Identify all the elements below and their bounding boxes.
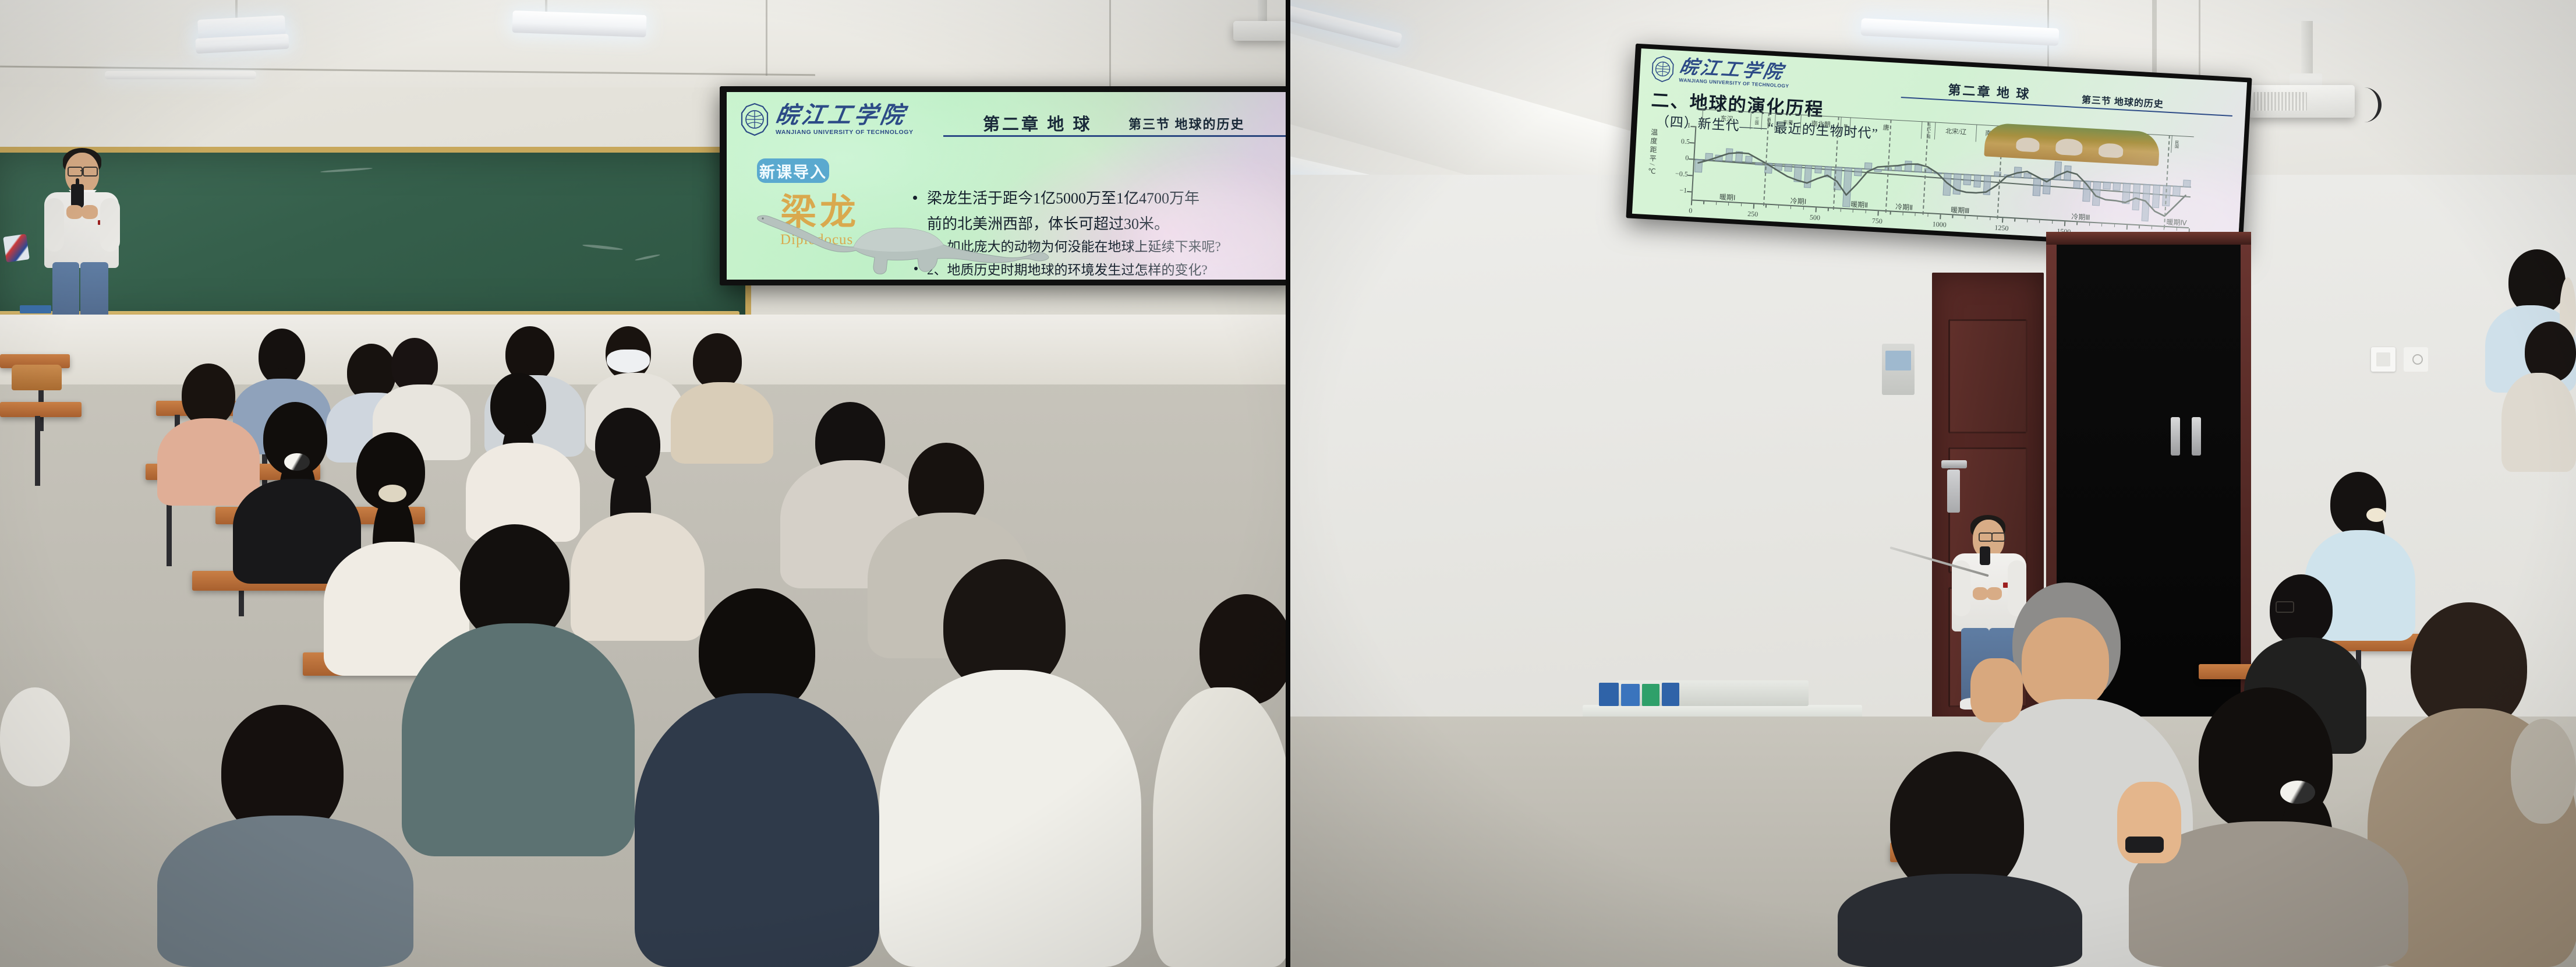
- chart-x-minor-tick: [2114, 224, 2114, 227]
- chart-x-minor-tick: [1902, 213, 1903, 216]
- projector-pole-right: [2301, 21, 2313, 76]
- glasses-icon: [2276, 601, 2294, 613]
- power-socket: [2404, 347, 2428, 372]
- chart-x-minor-tick: [1728, 203, 1729, 206]
- projector-cable: [2345, 87, 2382, 122]
- chart-x-minor-tick: [1853, 210, 1853, 213]
- chart-x-tick: [2126, 225, 2128, 230]
- dynasty-label: 东汉: [1720, 115, 1733, 122]
- chart-y-tick: [1690, 126, 1695, 127]
- chart-x-minor-tick: [1952, 215, 1953, 218]
- wall-control-panel: [1882, 344, 1915, 395]
- chalk-mark: [320, 167, 373, 173]
- chart-x-minor-tick: [2089, 223, 2090, 226]
- chart-x-minor-tick: [1765, 204, 1766, 207]
- chart-x-tick-label: 500: [1803, 213, 1827, 223]
- observer-body: [1838, 874, 2082, 967]
- mammoth-figure: [2099, 143, 2124, 158]
- chalk-box: [1621, 684, 1640, 706]
- chart-x-tick-label: 0: [1679, 206, 1703, 216]
- light-switch: [2371, 347, 2395, 372]
- chart-x-minor-tick: [2039, 220, 2040, 223]
- chart-y-tick: [1687, 191, 1692, 192]
- projector-left: [1233, 21, 1288, 41]
- chart-x-minor-tick: [1716, 202, 1717, 205]
- chart-x-minor-tick: [1965, 216, 1965, 219]
- door-lock-plate: [1947, 470, 1960, 513]
- dynasty-cell: 北宋/辽: [1934, 122, 1977, 142]
- glasses-icon: [1979, 532, 1993, 542]
- chart-x-minor-tick: [1740, 203, 1741, 206]
- chart-y-tick: [1690, 142, 1694, 143]
- teacher-arm-right: [100, 198, 120, 252]
- panel-divider: [1286, 0, 1290, 967]
- student-body: [1153, 687, 1288, 967]
- slide-left: 皖江工学院 WANJIANG UNIVERSITY OF TECHNOLOGY …: [727, 92, 1288, 280]
- desk-leg: [35, 416, 40, 486]
- chart-x-minor-tick: [1990, 217, 1990, 220]
- student-shoulder: [0, 687, 70, 786]
- chart-x-tick-label: 250: [1741, 209, 1765, 219]
- chart-x-minor-tick: [1915, 213, 1916, 216]
- microphone-right: [1980, 546, 1990, 565]
- diplodocus-illustration: [751, 200, 1077, 280]
- projector-pole-left: [1258, 0, 1267, 23]
- chair-back: [12, 365, 62, 390]
- chart-y-axis-label: 温度距平/℃: [1646, 128, 1659, 193]
- chart-x-minor-tick: [1977, 217, 1977, 220]
- header-rule-right: [1901, 97, 2232, 117]
- chalk-mark: [635, 253, 660, 261]
- chart-x-tick: [1940, 214, 1941, 219]
- teacher-hand-left: [1973, 587, 1988, 600]
- observer-shoulder: [2511, 719, 2576, 824]
- hair-bow: [378, 485, 406, 502]
- mammoth-figure: [2016, 137, 2040, 152]
- chart-x-minor-tick: [1703, 202, 1704, 204]
- hair-scrunchie: [284, 453, 310, 471]
- glasses-bridge: [80, 170, 83, 171]
- student-body-striped: [879, 670, 1141, 967]
- chart-x-minor-tick: [1927, 214, 1928, 217]
- bullet-dot: [913, 196, 917, 200]
- slide-header-section-left: 第三节 地球的历史: [1128, 114, 1245, 133]
- chart-x-minor-tick: [2176, 228, 2177, 231]
- glasses-icon: [1991, 532, 2005, 542]
- chart-x-minor-tick: [1791, 206, 1791, 209]
- socket-dial: [2412, 354, 2423, 365]
- slide-header-chapter-left: 第二章 地 球: [983, 111, 1092, 135]
- chart-y-tick-label: 1: [1671, 120, 1691, 130]
- chart-x-minor-tick: [1828, 208, 1828, 211]
- wrist-watch: [2125, 837, 2164, 853]
- chart-x-minor-tick: [2139, 225, 2139, 228]
- face-mask: [607, 350, 650, 373]
- university-crest-icon: [739, 103, 770, 136]
- projector-vent: [2253, 92, 2307, 111]
- dynasty-cell: 东晋: [1774, 113, 1802, 132]
- chalk-box: [1599, 683, 1619, 706]
- student-body: [635, 693, 879, 967]
- switch-button: [2376, 352, 2390, 366]
- control-panel-screen: [1885, 351, 1911, 370]
- dynasty-label: 南北朝: [1811, 121, 1831, 128]
- dynasty-cell: 南北朝: [1800, 115, 1841, 135]
- chart-y-tick: [1688, 175, 1693, 176]
- panel-left-classroom: 皖江工学院 WANJIANG UNIVERSITY OF TECHNOLOGY …: [0, 0, 1288, 967]
- dynasty-label: 北宋/辽: [1945, 128, 1967, 136]
- chart-y-tick-label: −0.5: [1668, 169, 1688, 179]
- desk: [0, 402, 82, 417]
- chart-x-minor-tick: [2101, 224, 2102, 227]
- inner-door-handle: [2171, 417, 2180, 456]
- chart-x-tick: [1691, 200, 1692, 205]
- glasses-icon: [83, 167, 98, 177]
- university-crest-icon: [1650, 55, 1676, 83]
- observer-face: [2022, 617, 2109, 708]
- chalk-mark: [582, 243, 623, 250]
- teacher-hand-right: [1987, 587, 2002, 600]
- student-head: [693, 333, 742, 389]
- student-body: [671, 382, 773, 464]
- pill-new-lesson: 新课导入: [757, 158, 829, 183]
- slide-right: 皖江工学院 WANJIANG UNIVERSITY OF TECHNOLOGY …: [1632, 48, 2247, 248]
- university-logo-right: 皖江工学院 WANJIANG UNIVERSITY OF TECHNOLOGY: [1650, 55, 1791, 90]
- dynasty-label: 民国: [2174, 140, 2179, 149]
- chart-x-tick: [1816, 207, 1817, 212]
- university-logo-left: 皖江工学院 WANJIANG UNIVERSITY OF TECHNOLOGY: [739, 103, 914, 136]
- chart-y-tick-label: 0.5: [1670, 136, 1690, 146]
- microphone-tip: [76, 178, 79, 188]
- chart-x-minor-tick: [2027, 220, 2027, 223]
- student-head: [182, 363, 235, 426]
- chalk-box: [1662, 683, 1679, 706]
- chart-x-minor-tick: [1865, 210, 1866, 213]
- chart-x-minor-tick: [2076, 222, 2077, 225]
- dynasty-label: 东晋: [1783, 120, 1793, 126]
- chart-x-tick-label: 1000: [1927, 220, 1951, 230]
- chart-x-minor-tick: [1778, 206, 1779, 209]
- ceiling-seam-3: [766, 0, 767, 76]
- panel-right-classroom: 皖江工学院 WANJIANG UNIVERSITY OF TECHNOLOGY …: [1290, 0, 2576, 967]
- observer-body: [2501, 373, 2576, 472]
- board-sticker: [3, 234, 30, 262]
- chalk-box: [1642, 684, 1659, 706]
- inner-door-handle: [2192, 417, 2201, 456]
- student-body: [571, 513, 705, 641]
- chart-y-tick-label: 0: [1669, 153, 1689, 163]
- door-handle: [1941, 460, 1967, 468]
- teacher-hand-right: [82, 205, 98, 219]
- chart-y-tick-label: −1: [1667, 185, 1687, 195]
- chart-y-tick: [1689, 158, 1693, 160]
- slide-header-chapter-right: 第二章 地 球: [1948, 80, 2032, 103]
- dynasty-cell: 民国: [2171, 135, 2181, 153]
- teacher-hand-left: [66, 205, 83, 219]
- chart-x-tick: [1753, 204, 1754, 209]
- projector-right: [2249, 85, 2355, 118]
- door-panel: [1948, 319, 2027, 433]
- fluorescent-tube-3: [105, 71, 256, 79]
- tube-rod-1: [235, 0, 238, 20]
- door-header: [2046, 232, 2251, 245]
- chart-x-minor-tick: [2152, 227, 2152, 230]
- chart-x-minor-tick: [1840, 209, 1841, 212]
- pill-label: 新课导入: [759, 160, 827, 182]
- student-body: [157, 816, 413, 967]
- chart-x-tick: [2002, 218, 2003, 223]
- chart-x-minor-tick: [2052, 221, 2053, 224]
- dynasty-label: 三国: [1754, 117, 1759, 125]
- header-rule-left: [943, 135, 1288, 137]
- mammoth-figure: [2055, 138, 2083, 156]
- dynasty-label: 隋: [1843, 123, 1848, 128]
- chart-x-tick-label: 1250: [1990, 223, 2014, 233]
- dynasty-label: 唐: [1883, 125, 1889, 132]
- university-name-en: WANJIANG UNIVERSITY OF TECHNOLOGY: [776, 129, 914, 136]
- glasses-icon: [68, 167, 83, 177]
- board-eraser: [20, 305, 51, 313]
- teacher-arm-left: [44, 198, 64, 252]
- chart-x-minor-tick: [2015, 218, 2015, 221]
- university-name-cn: 皖江工学院: [774, 104, 915, 127]
- chart-x-minor-tick: [1803, 207, 1803, 210]
- student-body: [402, 623, 635, 856]
- chart-x-tick: [2064, 221, 2065, 226]
- chart-x-minor-tick: [1890, 211, 1891, 214]
- chart-x-tick-label: 750: [1865, 216, 1889, 226]
- hair-scrunchie: [2280, 781, 2315, 804]
- fluorescent-tube-2: [512, 10, 646, 37]
- hair-scrunchie: [2366, 508, 2386, 522]
- chart-x-tick: [1877, 211, 1878, 216]
- student-body: [157, 418, 260, 506]
- screenshot-root: 皖江工学院 WANJIANG UNIVERSITY OF TECHNOLOGY …: [0, 0, 2576, 967]
- observer-hand: [1970, 658, 2023, 722]
